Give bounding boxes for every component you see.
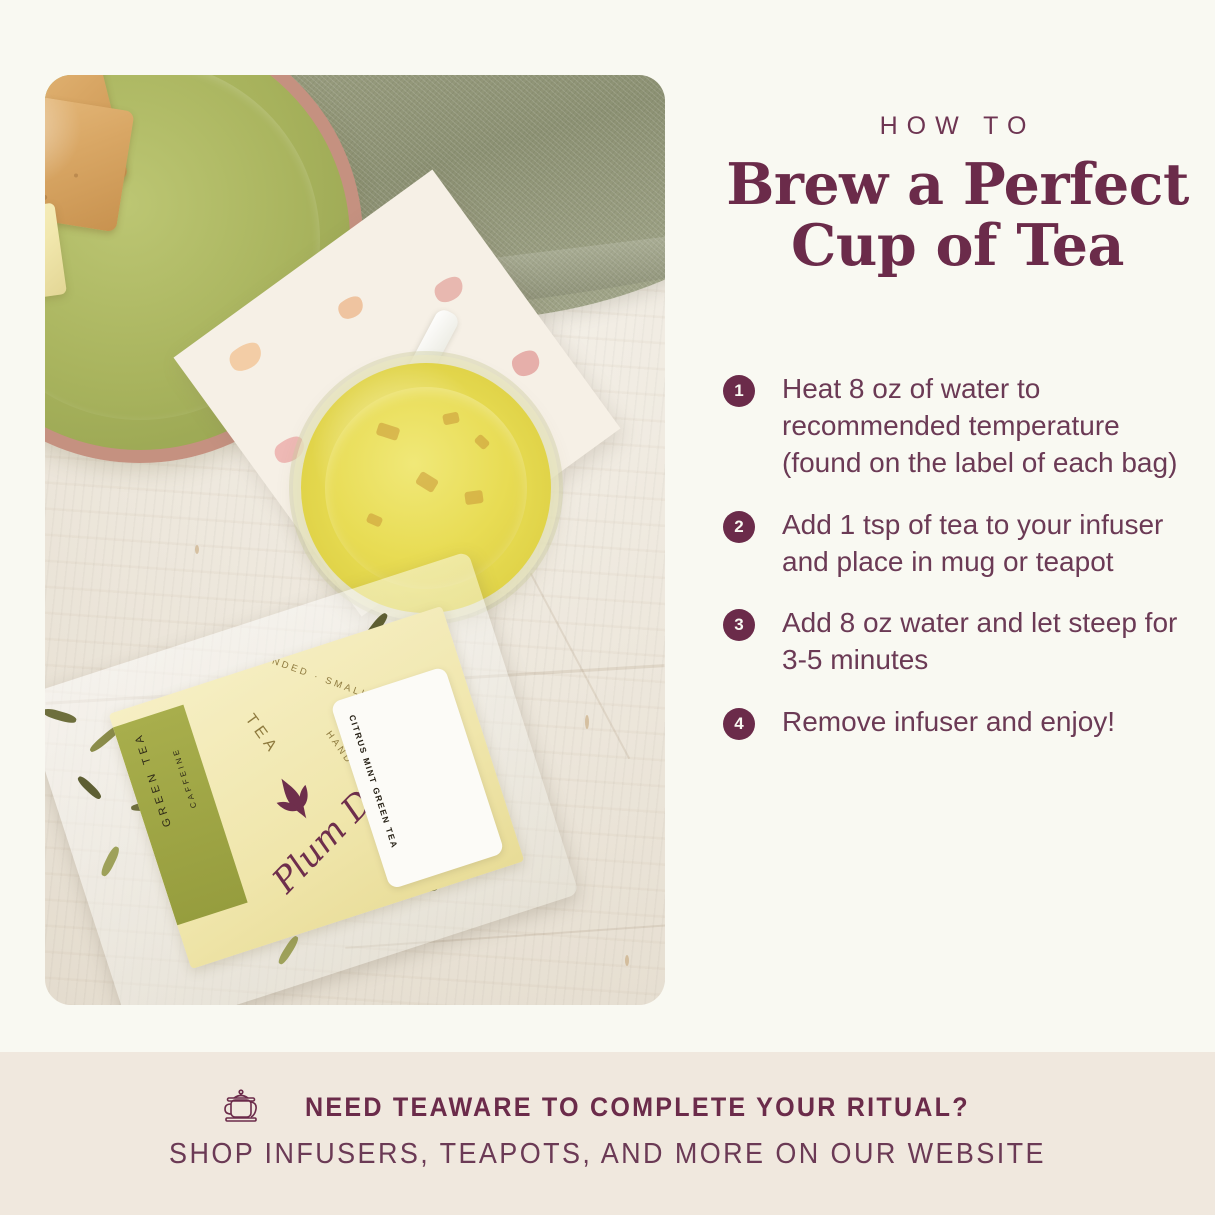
step-number-badge: 3 [723,609,755,641]
terrazzo-chip [225,337,267,376]
step-text: Heat 8 oz of water to recommended temper… [782,370,1193,482]
page-title-line-2: Cup of Tea [700,215,1215,276]
wood-fleck [625,955,629,966]
footer-line-2: SHOP INFUSERS, TEAPOTS, AND MORE ON OUR … [43,1138,1173,1171]
wood-fleck [585,715,589,729]
terrazzo-chip [431,272,468,307]
content-column: HOW TO Brew a Perfect Cup of Tea 1 Heat … [700,0,1215,1052]
infographic-page: GREEN TEA CAFFEINE HAND BLENDED · SMALL … [0,0,1215,1215]
steps-list: 1 Heat 8 oz of water to recommended temp… [723,370,1193,764]
wood-fleck [195,545,199,554]
footer-line-1: NEED TEAWARE TO COMPLETE YOUR RITUAL? [305,1092,970,1123]
step-number-badge: 1 [723,375,755,407]
terrazzo-chip [508,345,545,381]
footer-banner: NEED TEAWARE TO COMPLETE YOUR RITUAL? SH… [0,1052,1215,1215]
step-item: 1 Heat 8 oz of water to recommended temp… [723,370,1193,482]
step-number-badge: 4 [723,708,755,740]
photo-scene: GREEN TEA CAFFEINE HAND BLENDED · SMALL … [45,75,665,1005]
package-arc-center: TEA [241,711,283,759]
step-item: 3 Add 8 oz water and let steep for 3-5 m… [723,604,1193,678]
step-item: 2 Add 1 tsp of tea to your infuser and p… [723,506,1193,580]
step-text: Add 1 tsp of tea to your infuser and pla… [782,506,1193,580]
terrazzo-chip [335,292,368,323]
step-text: Add 8 oz water and let steep for 3-5 min… [782,604,1193,678]
page-title: Brew a Perfect Cup of Tea [700,154,1215,276]
footer-headline-row: NEED TEAWARE TO COMPLETE YOUR RITUAL? [0,1087,1215,1127]
teapot-icon [220,1087,262,1127]
page-title-line-1: Brew a Perfect [700,154,1215,215]
step-item: 4 Remove infuser and enjoy! [723,703,1193,740]
hero-photo: GREEN TEA CAFFEINE HAND BLENDED · SMALL … [45,75,665,1005]
cracker [45,90,135,233]
step-number-badge: 2 [723,511,755,543]
tea-liquid [325,387,527,589]
eyebrow-label: HOW TO [700,112,1215,141]
step-text: Remove infuser and enjoy! [782,703,1115,740]
